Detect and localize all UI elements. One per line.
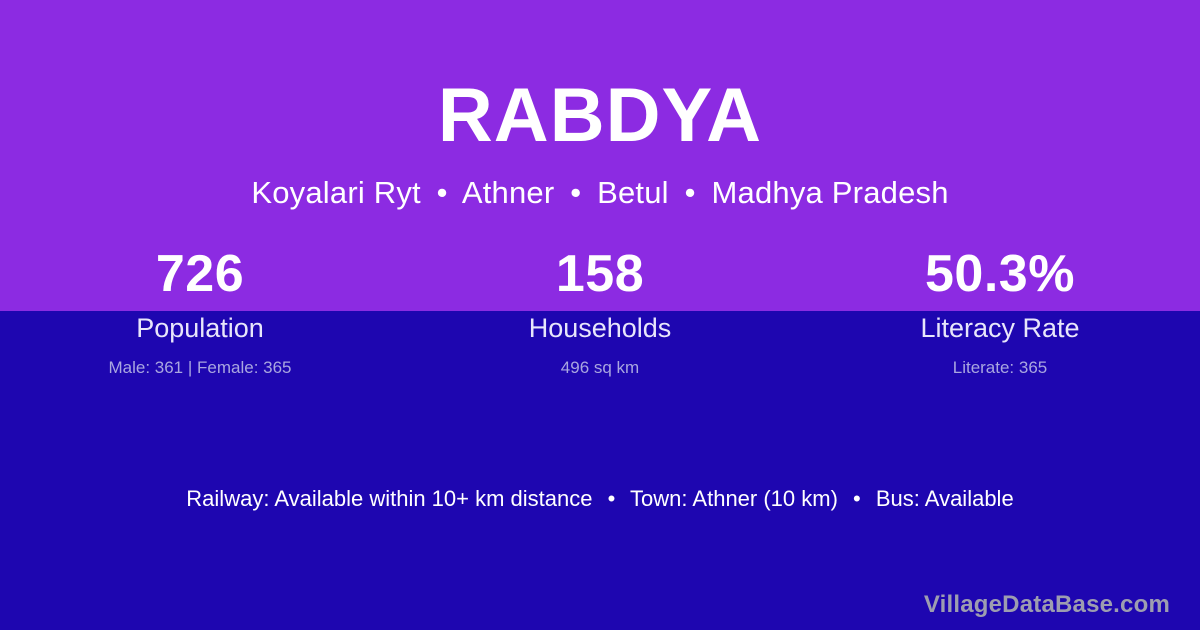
breadcrumb-item-block: Athner [462,175,555,210]
stat-literacy-rate: 50.3% Literacy Rate Literate: 365 [800,248,1200,376]
info-separator: • [844,486,870,512]
page-title: RABDYA [0,0,1200,154]
info-separator: • [599,486,625,512]
stat-value: 158 [400,248,800,300]
amenities-info-line: Railway: Available within 10+ km distanc… [0,486,1200,512]
breadcrumb-item-district: Betul [597,175,669,210]
breadcrumb-item-panchayat: Koyalari Ryt [251,175,421,210]
card-header: RABDYA Koyalari Ryt • Athner • Betul • M… [0,0,1200,208]
stat-label: Population [0,315,400,342]
info-item-railway: Railway: Available within 10+ km distanc… [186,486,592,511]
site-branding: VillageDataBase.com [924,593,1170,617]
breadcrumb-separator: • [678,177,703,208]
stats-row: 726 Population Male: 361 | Female: 365 1… [0,248,1200,376]
stat-label: Literacy Rate [800,315,1200,342]
info-item-bus: Bus: Available [876,486,1014,511]
stat-label: Households [400,315,800,342]
breadcrumb-item-state: Madhya Pradesh [712,175,949,210]
stat-value: 50.3% [800,248,1200,300]
breadcrumb-separator: • [430,177,455,208]
info-item-town: Town: Athner (10 km) [630,486,838,511]
stat-value: 726 [0,248,400,300]
stat-sublabel: Literate: 365 [800,359,1200,376]
village-info-card: RABDYA Koyalari Ryt • Athner • Betul • M… [0,0,1200,630]
stat-sublabel: Male: 361 | Female: 365 [0,359,400,376]
breadcrumb-separator: • [563,177,588,208]
stat-population: 726 Population Male: 361 | Female: 365 [0,248,400,376]
breadcrumb: Koyalari Ryt • Athner • Betul • Madhya P… [0,154,1200,208]
stat-sublabel: 496 sq km [400,359,800,376]
stat-households: 158 Households 496 sq km [400,248,800,376]
